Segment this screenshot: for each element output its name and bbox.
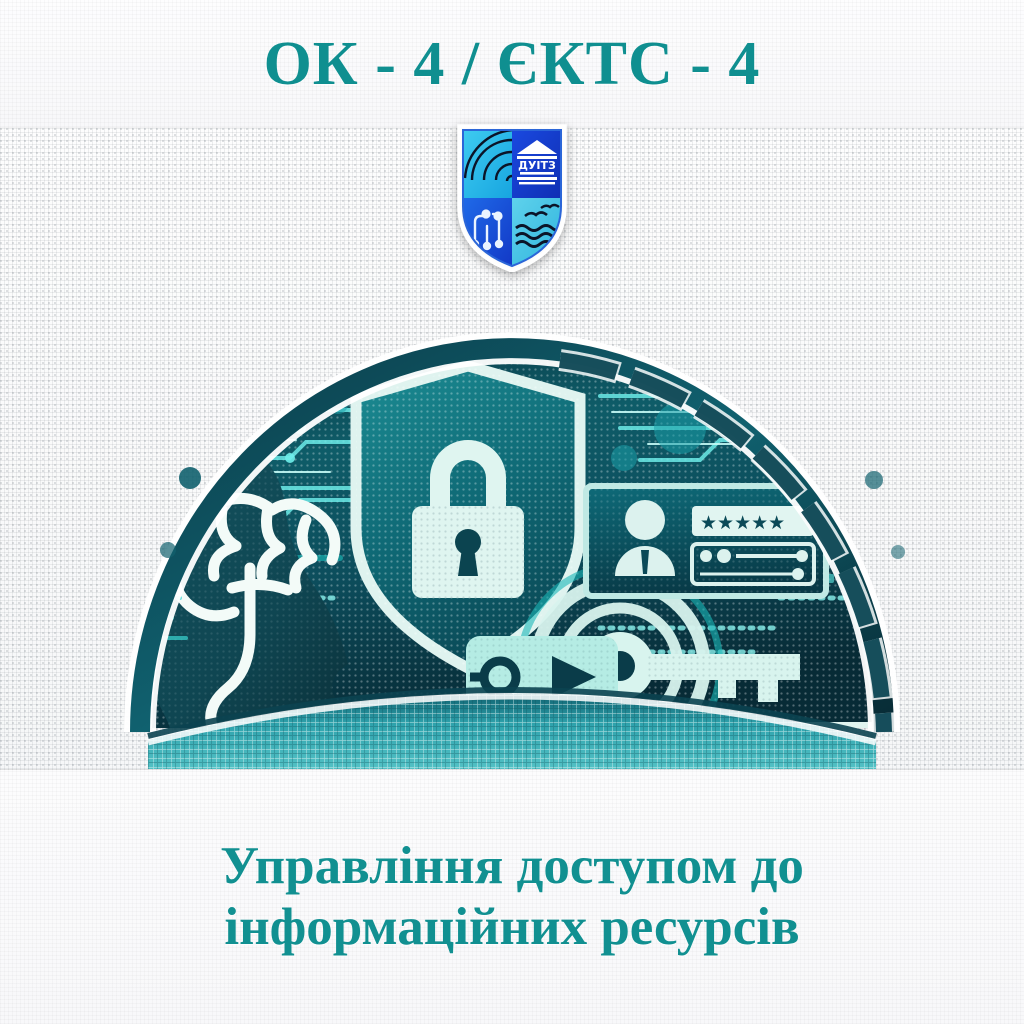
subject-title-line-1: Управління доступом до bbox=[220, 836, 804, 897]
header-band: ОК - 4 / ЄКТС - 4 bbox=[0, 0, 1024, 128]
slide-canvas: ОК - 4 / ЄКТС - 4 bbox=[0, 0, 1024, 1024]
duitz-coat-of-arms: ДУІТЗ bbox=[453, 122, 571, 272]
password-field: ★★★★★ bbox=[692, 506, 814, 536]
subject-title-line-2: інформаційних ресурсів bbox=[224, 897, 799, 958]
svg-text:★★★★★: ★★★★★ bbox=[700, 512, 785, 534]
emblem-abbreviation: ДУІТЗ bbox=[518, 159, 556, 172]
password-stars: ★★★★★ bbox=[700, 512, 785, 534]
footer-band: Управління доступом до інформаційних рес… bbox=[0, 770, 1024, 1024]
course-code-title: ОК - 4 / ЄКТС - 4 bbox=[264, 33, 761, 95]
